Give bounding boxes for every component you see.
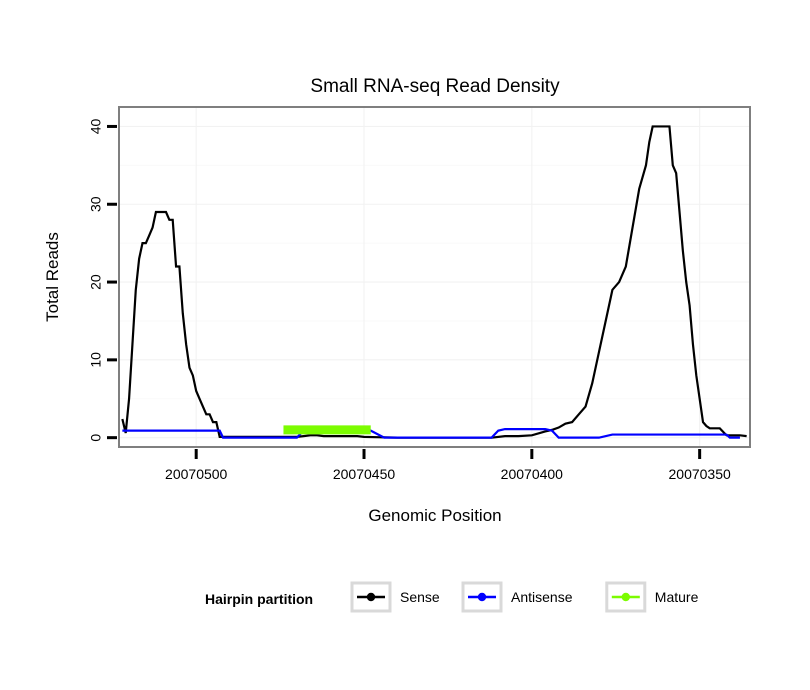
chart-container: Small RNA-seq Read Density 2007050020070… — [0, 0, 810, 690]
x-axis-title: Genomic Position — [368, 506, 501, 525]
x-tick-label: 20070400 — [501, 466, 564, 482]
y-tick-label: 0 — [88, 434, 104, 442]
x-tick-label: 20070450 — [333, 466, 396, 482]
x-tick-label: 20070350 — [669, 466, 732, 482]
y-tick-label: 40 — [88, 118, 104, 134]
legend-key-point — [367, 593, 375, 601]
legend-entry-label: Mature — [655, 589, 699, 605]
plot-panel-background — [119, 107, 750, 447]
y-tick-label: 30 — [88, 196, 104, 212]
x-tick-label: 20070500 — [165, 466, 228, 482]
legend-title: Hairpin partition — [205, 591, 313, 607]
legend-entry-label: Sense — [400, 589, 440, 605]
legend-entry-label: Antisense — [511, 589, 573, 605]
y-tick-label: 20 — [88, 274, 104, 290]
y-tick-label: 10 — [88, 352, 104, 368]
y-axis-title: Total Reads — [43, 232, 62, 322]
read-density-chart: Small RNA-seq Read Density 2007050020070… — [0, 0, 810, 690]
chart-title: Small RNA-seq Read Density — [310, 76, 560, 97]
legend-key-point — [622, 593, 630, 601]
legend-key-point — [478, 593, 486, 601]
